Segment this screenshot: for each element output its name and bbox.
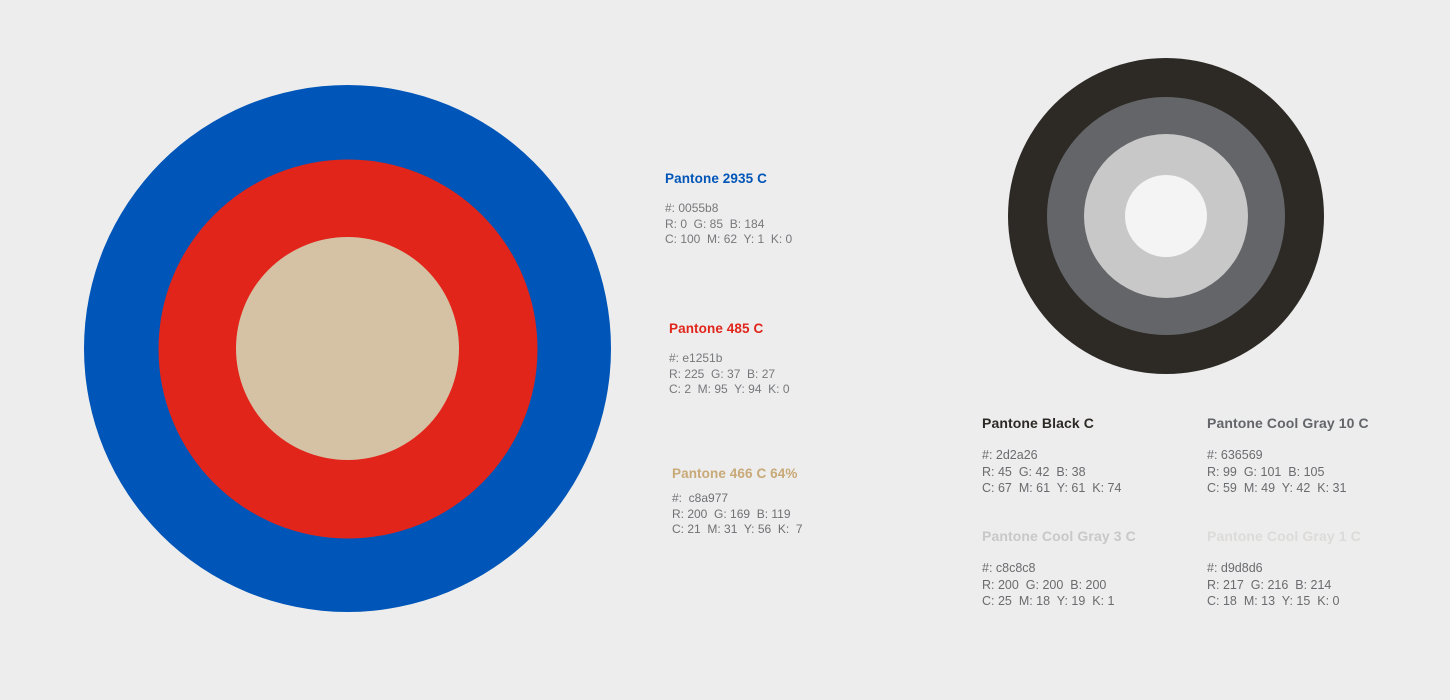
rgb-value: R: 200 G: 169 B: 119 <box>672 507 803 523</box>
cmyk-value: C: 21 M: 31 Y: 56 K: 7 <box>672 522 803 538</box>
hex-value: #: 0055b8 <box>665 201 792 217</box>
hex-value: #: 2d2a26 <box>982 447 1121 464</box>
rgb-value: R: 99 G: 101 B: 105 <box>1207 464 1369 481</box>
rgb-value: R: 217 G: 216 B: 214 <box>1207 577 1361 594</box>
ring-pantone-485 <box>158 159 537 538</box>
swatch-title: Pantone Cool Gray 10 C <box>1207 415 1369 431</box>
swatch-values: #: e1251b R: 225 G: 37 B: 27 C: 2 M: 95 … <box>669 351 790 398</box>
ring-cool-gray-1 <box>1125 175 1207 257</box>
palette-sheet: Pantone 2935 C #: 0055b8 R: 0 G: 85 B: 1… <box>0 0 1450 700</box>
swatch-title: Pantone 2935 C <box>665 171 792 186</box>
swatch-spec-pantone-black: Pantone Black C #: 2d2a26 R: 45 G: 42 B:… <box>982 415 1121 497</box>
swatch-spec-pantone-485: Pantone 485 C #: e1251b R: 225 G: 37 B: … <box>669 321 790 398</box>
hex-value: #: e1251b <box>669 351 790 367</box>
rgb-value: R: 225 G: 37 B: 27 <box>669 367 790 383</box>
swatch-title: Pantone 485 C <box>669 321 790 336</box>
ring-pantone-466 <box>236 237 459 460</box>
swatch-title: Pantone Cool Gray 1 C <box>1207 528 1361 544</box>
swatch-values: #: d9d8d6 R: 217 G: 216 B: 214 C: 18 M: … <box>1207 560 1361 610</box>
swatch-values: #: 636569 R: 99 G: 101 B: 105 C: 59 M: 4… <box>1207 447 1369 497</box>
swatch-values: #: 2d2a26 R: 45 G: 42 B: 38 C: 67 M: 61 … <box>982 447 1121 497</box>
swatch-spec-cool-gray-10: Pantone Cool Gray 10 C #: 636569 R: 99 G… <box>1207 415 1369 497</box>
swatch-spec-cool-gray-1: Pantone Cool Gray 1 C #: d9d8d6 R: 217 G… <box>1207 528 1361 610</box>
rgb-value: R: 200 G: 200 B: 200 <box>982 577 1136 594</box>
hex-value: #: c8c8c8 <box>982 560 1136 577</box>
cmyk-value: C: 100 M: 62 Y: 1 K: 0 <box>665 232 792 248</box>
hex-value: #: c8a977 <box>672 491 803 507</box>
swatch-values: #: 0055b8 R: 0 G: 85 B: 184 C: 100 M: 62… <box>665 201 792 248</box>
ring-cool-gray-3 <box>1084 134 1248 298</box>
swatch-title: Pantone 466 C 64% <box>672 466 803 481</box>
ring-cool-gray-10 <box>1047 97 1285 335</box>
cmyk-value: C: 2 M: 95 Y: 94 K: 0 <box>669 382 790 398</box>
cmyk-value: C: 59 M: 49 Y: 42 K: 31 <box>1207 480 1369 497</box>
cmyk-value: C: 25 M: 18 Y: 19 K: 1 <box>982 593 1136 610</box>
swatch-title: Pantone Cool Gray 3 C <box>982 528 1136 544</box>
hex-value: #: d9d8d6 <box>1207 560 1361 577</box>
swatch-title: Pantone Black C <box>982 415 1121 431</box>
swatch-spec-pantone-2935: Pantone 2935 C #: 0055b8 R: 0 G: 85 B: 1… <box>665 171 792 248</box>
neutral-color-target <box>1008 58 1324 374</box>
cmyk-value: C: 67 M: 61 Y: 61 K: 74 <box>982 480 1121 497</box>
cmyk-value: C: 18 M: 13 Y: 15 K: 0 <box>1207 593 1361 610</box>
rgb-value: R: 0 G: 85 B: 184 <box>665 217 792 233</box>
swatch-values: #: c8a977 R: 200 G: 169 B: 119 C: 21 M: … <box>672 491 803 538</box>
hex-value: #: 636569 <box>1207 447 1369 464</box>
swatch-spec-pantone-466: Pantone 466 C 64% #: c8a977 R: 200 G: 16… <box>672 466 803 538</box>
rgb-value: R: 45 G: 42 B: 38 <box>982 464 1121 481</box>
primary-color-target <box>84 85 611 612</box>
swatch-values: #: c8c8c8 R: 200 G: 200 B: 200 C: 25 M: … <box>982 560 1136 610</box>
swatch-spec-cool-gray-3: Pantone Cool Gray 3 C #: c8c8c8 R: 200 G… <box>982 528 1136 610</box>
